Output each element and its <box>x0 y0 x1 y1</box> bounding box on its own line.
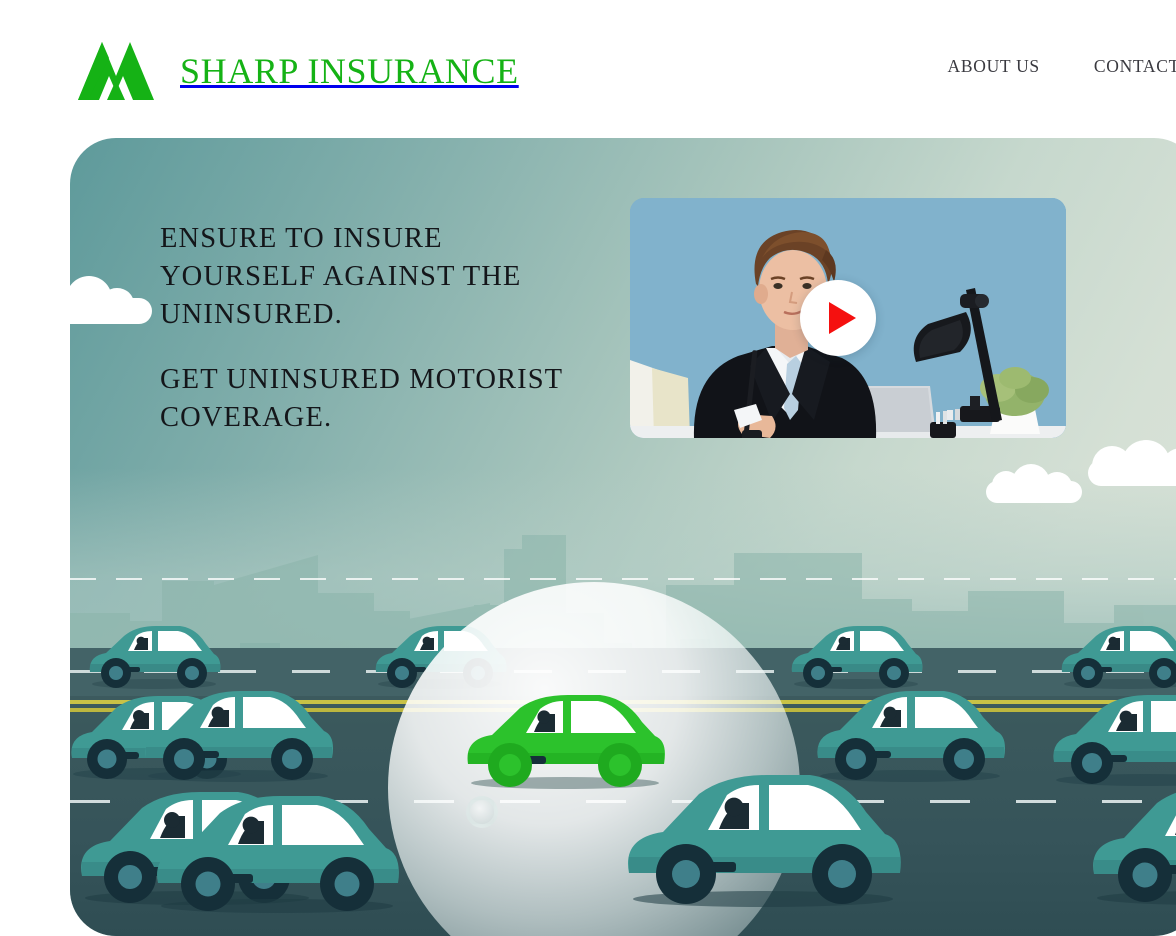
brand-name: SHARP INSURANCE <box>180 50 519 92</box>
video-thumbnail-card[interactable] <box>630 198 1066 438</box>
traffic-car <box>1056 620 1176 690</box>
nav-item-contact[interactable]: CONTACT <box>1094 56 1176 77</box>
nav-item-about-us[interactable]: ABOUT US <box>948 56 1040 77</box>
hero-subline: GET UNINSURED MOTORIST COVERAGE. <box>160 361 580 437</box>
horizon-dash-line <box>70 578 1176 580</box>
cloud-icon <box>70 276 154 324</box>
traffic-car <box>618 766 908 910</box>
main-nav: ABOUT US CONTACT <box>948 56 1176 77</box>
traffic-car <box>84 620 224 690</box>
hero-banner: ENSURE TO INSURE YOURSELF AGAINST THE UN… <box>70 138 1176 936</box>
traffic-car <box>138 684 338 784</box>
lane-marking-dashed <box>70 670 1176 673</box>
hero-headline: ENSURE TO INSURE YOURSELF AGAINST THE UN… <box>160 220 580 334</box>
landing-page: SHARP INSURANCE ABOUT US CONTACT <box>0 0 1176 936</box>
hero-copy: ENSURE TO INSURE YOURSELF AGAINST THE UN… <box>160 220 580 436</box>
site-header: SHARP INSURANCE ABOUT US CONTACT <box>0 0 1176 138</box>
traffic-car <box>370 620 510 690</box>
mountain-logo-icon <box>76 40 156 102</box>
traffic-car <box>1084 778 1176 908</box>
traffic-car <box>148 788 406 916</box>
play-triangle-icon <box>829 302 856 334</box>
brand-logo-link[interactable]: SHARP INSURANCE <box>76 40 519 102</box>
traffic-car <box>786 620 926 690</box>
play-button[interactable] <box>800 280 876 356</box>
traffic-car <box>1046 688 1176 788</box>
